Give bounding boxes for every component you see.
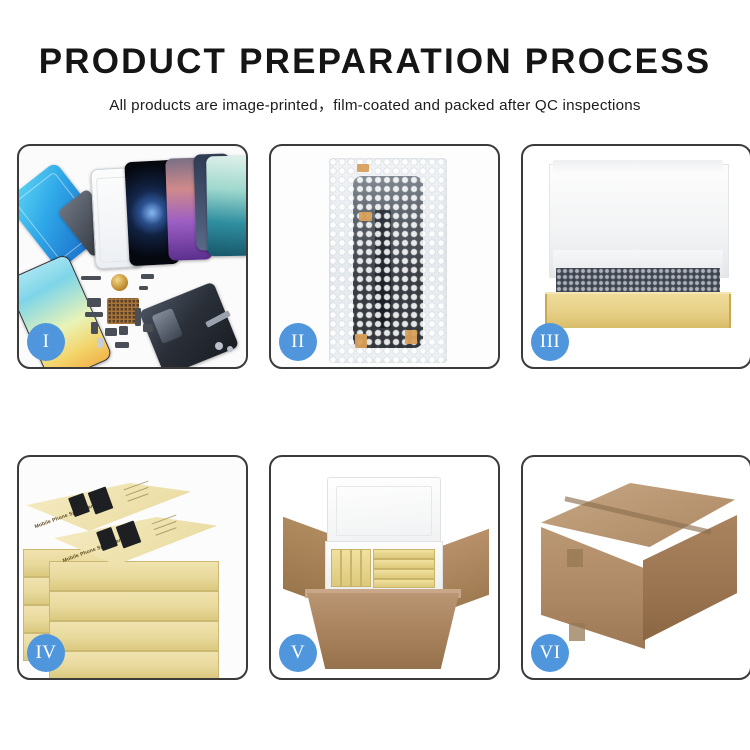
kraft-box-front-face bbox=[545, 294, 731, 328]
stacked-box-r2 bbox=[49, 591, 219, 621]
part-chip-10 bbox=[143, 324, 153, 332]
part-chip-6 bbox=[91, 322, 98, 334]
step-badge-ii: II bbox=[279, 323, 317, 361]
part-chip-11 bbox=[115, 342, 129, 348]
tape-middle bbox=[359, 212, 372, 221]
foam-box-lid bbox=[327, 477, 441, 545]
step-badge-i: I bbox=[27, 323, 65, 361]
part-chip-12 bbox=[97, 338, 103, 348]
stacked-box-r3 bbox=[49, 621, 219, 651]
gold-component-icon bbox=[111, 274, 128, 291]
part-screw-2 bbox=[227, 346, 233, 352]
bubble-texture bbox=[329, 158, 447, 363]
carton-tape-upper bbox=[567, 549, 583, 567]
box-lid-edge bbox=[553, 160, 723, 172]
step-badge-vi: VI bbox=[531, 634, 569, 672]
page-header: PRODUCT PREPARATION PROCESS All products… bbox=[0, 0, 750, 115]
carton-tape-lower bbox=[569, 623, 585, 641]
step-panel-v[interactable]: V bbox=[269, 455, 500, 680]
part-chip-1 bbox=[81, 276, 101, 280]
part-chip-2 bbox=[141, 274, 154, 279]
part-screw-1 bbox=[215, 342, 223, 350]
step-panel-iii[interactable]: III bbox=[521, 144, 750, 369]
yellow-box-4 bbox=[361, 549, 371, 587]
part-chip-5 bbox=[85, 312, 103, 317]
yellow-box-2 bbox=[341, 549, 351, 587]
phone-back-housing bbox=[139, 282, 239, 367]
step-badge-iii: III bbox=[531, 323, 569, 361]
yellow-box-8 bbox=[373, 579, 435, 588]
stacked-box-r4 bbox=[49, 651, 219, 678]
step-badge-iv: IV bbox=[27, 634, 65, 672]
yellow-box-3 bbox=[351, 549, 361, 587]
stacked-box-r1 bbox=[49, 561, 219, 591]
carton-body bbox=[307, 593, 459, 669]
step-badge-v: V bbox=[279, 634, 317, 672]
part-chip-7 bbox=[105, 328, 117, 336]
yellow-box-6 bbox=[373, 559, 435, 569]
tape-bottom-left bbox=[355, 334, 367, 348]
step-panel-i[interactable]: I bbox=[17, 144, 248, 369]
part-chip-9 bbox=[135, 308, 141, 326]
step-panel-iv[interactable]: Mobile Phone Spare Parts Mobile Phone Sp… bbox=[17, 455, 248, 680]
teal-gradient-phone bbox=[206, 156, 246, 257]
page-subtitle: All products are image-printed，film-coat… bbox=[0, 93, 750, 115]
carton-left-face bbox=[541, 527, 645, 649]
part-chip-4 bbox=[87, 298, 101, 307]
process-steps-grid: I II III bbox=[17, 144, 734, 679]
part-chip-8 bbox=[119, 326, 128, 335]
tape-top bbox=[357, 164, 369, 172]
part-chip-3 bbox=[139, 286, 148, 290]
bubble-wrap-bag bbox=[329, 158, 447, 363]
step-panel-vi[interactable]: VI bbox=[521, 455, 750, 680]
yellow-box-7 bbox=[373, 569, 435, 579]
yellow-box-1 bbox=[331, 549, 341, 587]
step-panel-ii[interactable]: II bbox=[269, 144, 500, 369]
yellow-box-5 bbox=[373, 549, 435, 559]
tape-bottom-right bbox=[405, 330, 417, 344]
page-title: PRODUCT PREPARATION PROCESS bbox=[0, 44, 750, 81]
